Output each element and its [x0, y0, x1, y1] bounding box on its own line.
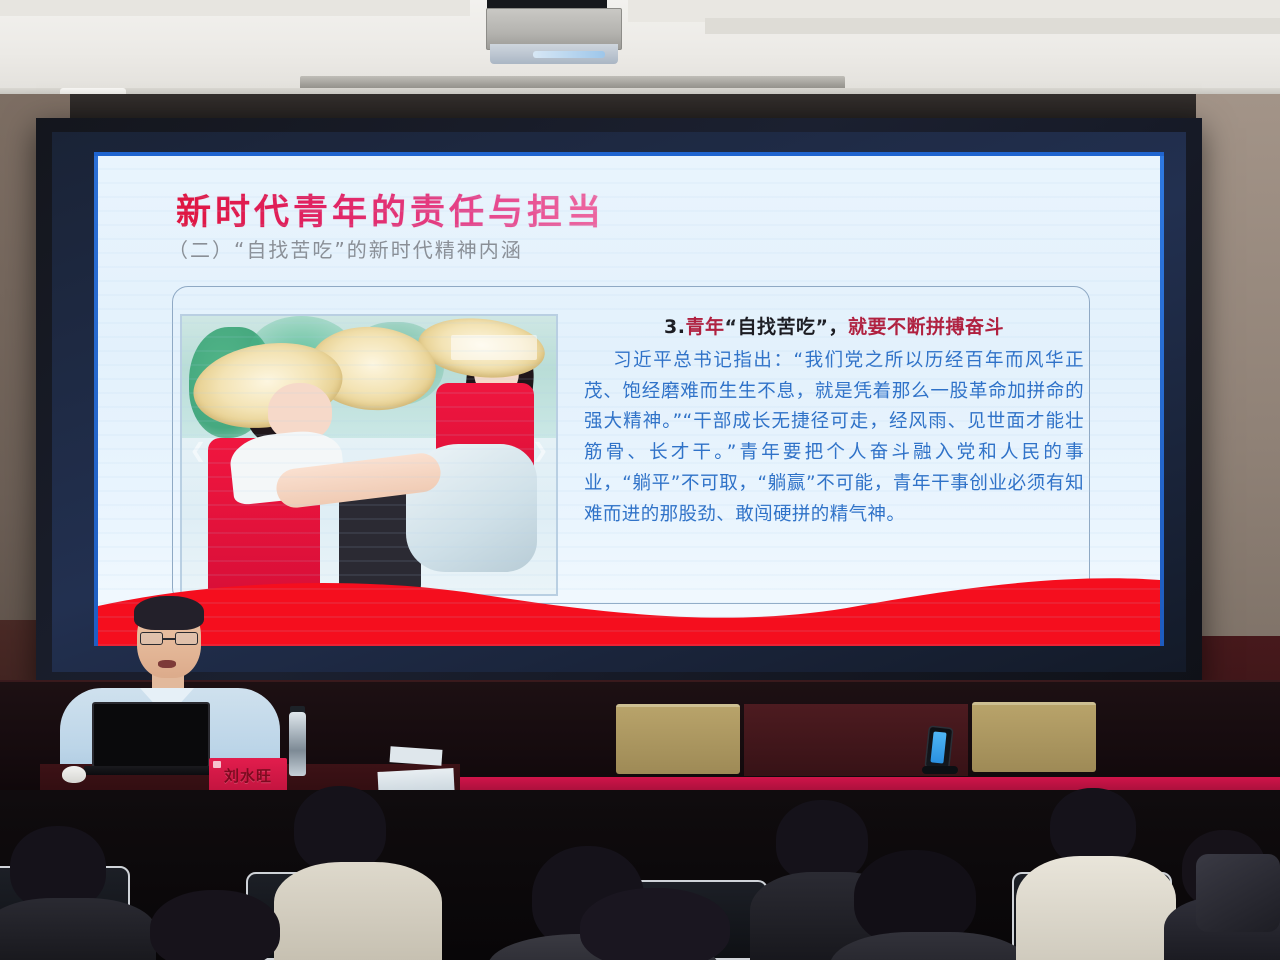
wave-svg	[98, 554, 1160, 646]
chevron-right-icon: ❯	[532, 438, 549, 462]
audience-shoulders	[1016, 856, 1176, 960]
heading-plain-1: “自找苦吃”，	[724, 316, 847, 338]
heading-number: 3.	[664, 316, 685, 338]
ceiling-panel	[705, 18, 1280, 34]
heading-highlight-1: 青年	[685, 316, 724, 338]
chevron-left-icon: ❮	[189, 438, 206, 462]
audience-shoulders	[0, 898, 156, 960]
slide-title: 新时代青年的责任与担当	[176, 184, 605, 235]
audience-person	[1032, 788, 1152, 960]
water-bottle[interactable]	[289, 712, 306, 776]
laptop[interactable]	[92, 702, 210, 768]
paragraph-text: 习近平总书记指出：“我们党之所以历经百年而风华正茂、饱经磨难而生生不息，就是凭着…	[584, 350, 1084, 525]
laptop-base	[84, 766, 220, 775]
slide-wave-decoration	[98, 554, 1160, 646]
lecture-hall-scene: 新时代青年的责任与担当 （二）“自找苦吃”的新时代精神内涵	[0, 0, 1280, 960]
backpack	[1196, 854, 1280, 932]
slide-subtitle: （二）“自找苦吃”的新时代精神内涵	[168, 234, 523, 263]
audience-shoulders	[830, 932, 1030, 960]
slide-surface: 新时代青年的责任与担当 （二）“自找苦吃”的新时代精神内涵	[98, 156, 1160, 646]
ceiling-panel	[0, 0, 470, 16]
audience-person	[846, 850, 1006, 960]
audience-head	[1050, 788, 1136, 866]
photo-watermark	[451, 335, 537, 360]
audience-head	[294, 786, 386, 872]
audience-head	[150, 890, 280, 960]
nameplate-emblem	[213, 761, 221, 768]
presenter-mouth	[158, 660, 176, 668]
audience-person	[280, 786, 420, 960]
phone-stand-base	[922, 766, 958, 774]
glasses-icon	[140, 632, 198, 645]
stage-chair[interactable]	[616, 704, 740, 774]
audience-person	[0, 826, 130, 960]
stage-chair[interactable]	[972, 702, 1096, 772]
nameplate-text: 刘水旺	[224, 765, 272, 786]
projection-screen[interactable]: 新时代青年的责任与担当 （二）“自找苦吃”的新时代精神内涵	[98, 156, 1160, 646]
audience-person	[150, 890, 300, 960]
audience-head	[580, 888, 730, 960]
slide-heading: 3.青年“自找苦吃”，就要不断拼搏奋斗	[584, 312, 1084, 343]
projector-lens-glass	[533, 51, 605, 58]
wave-path	[98, 578, 1160, 646]
slide-paragraph: 习近平总书记指出：“我们党之所以历经百年而风华正茂、饱经磨难而生生不息，就是凭着…	[584, 346, 1084, 530]
presenter-hair	[134, 596, 204, 630]
heading-highlight-2: 就要不断拼搏奋斗	[848, 316, 1004, 338]
mouse[interactable]	[62, 766, 86, 783]
presenter-nameplate: 刘水旺	[209, 758, 287, 792]
audience-person	[556, 888, 776, 960]
